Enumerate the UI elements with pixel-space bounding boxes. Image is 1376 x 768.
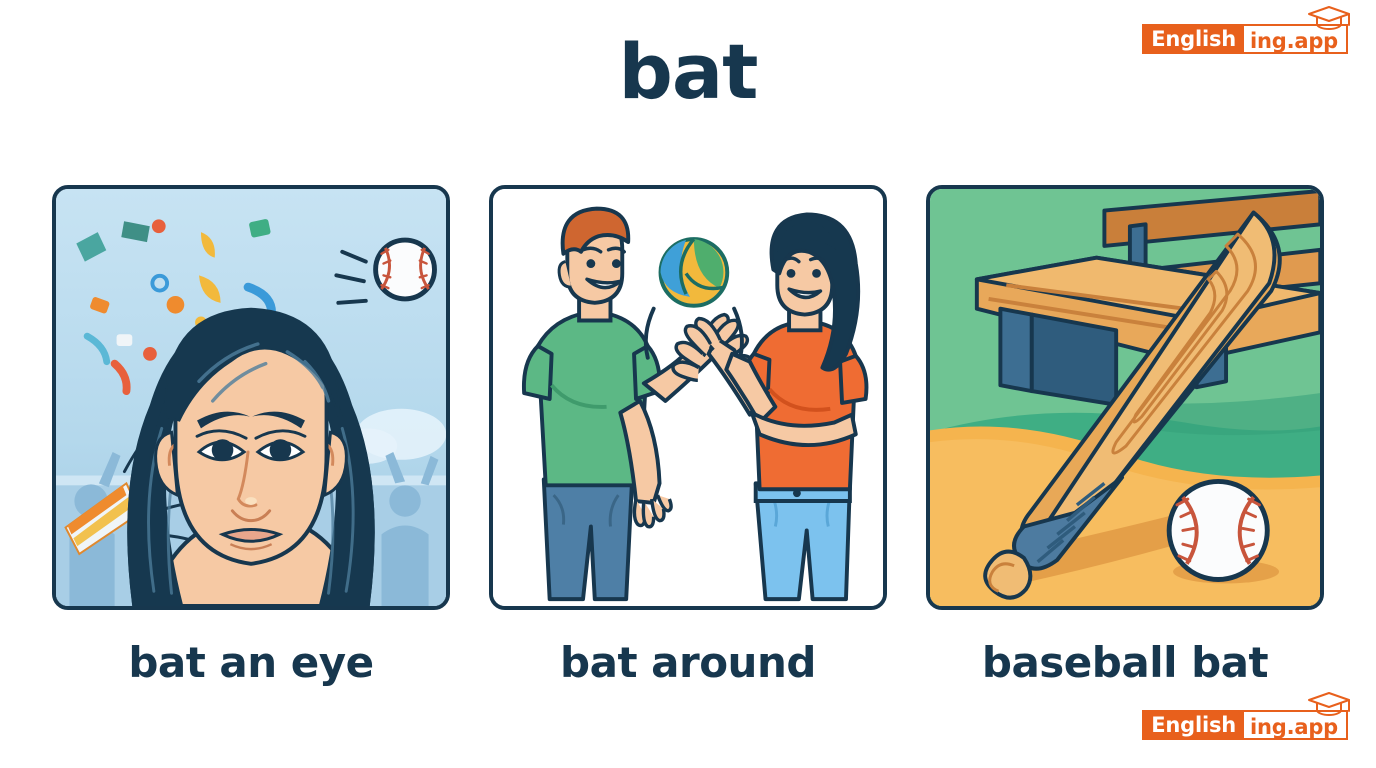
brand-logo-bottom[interactable]: English ing.app (1142, 710, 1348, 740)
illustration-row (52, 185, 1324, 610)
caption-bat-an-eye: bat an eye (52, 640, 450, 686)
woman-face-illustration (56, 189, 446, 606)
caption-baseball-bat: baseball bat (926, 640, 1324, 686)
page-title: bat (0, 34, 1376, 110)
illustration-card-bat-around[interactable] (489, 185, 887, 610)
baseball-bat-illustration (930, 189, 1320, 606)
caption-row: bat an eye bat around baseball bat (52, 640, 1324, 686)
graduation-cap-icon (1306, 5, 1352, 31)
two-people-tossing-ball-illustration (493, 189, 883, 606)
caption-bat-around: bat around (489, 640, 887, 686)
illustration-card-baseball-bat[interactable] (926, 185, 1324, 610)
brand-logo-left-text: English (1142, 710, 1244, 740)
illustration-card-bat-an-eye[interactable] (52, 185, 450, 610)
graduation-cap-icon (1306, 691, 1352, 717)
